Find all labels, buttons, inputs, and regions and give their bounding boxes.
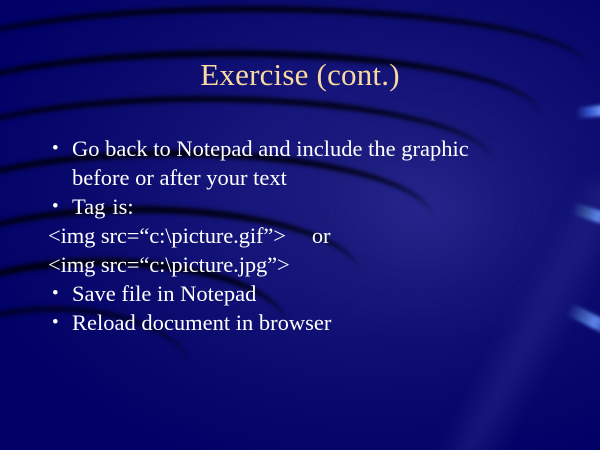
bullet-item-2-text-a: Tag <box>72 194 105 219</box>
bullet-glyph-icon: • <box>52 279 59 308</box>
slide-body: • Go back to Notepad and include the gra… <box>46 134 582 337</box>
bullet-item-3-text: Save file in Notepad <box>72 281 256 306</box>
accent-streak-1 <box>576 104 600 118</box>
bullet-glyph-icon: • <box>52 308 59 337</box>
presentation-slide: Exercise (cont.) • Go back to Notepad an… <box>0 0 600 450</box>
bullet-item-4: • Reload document in browser <box>46 308 582 337</box>
code-line-jpg-text: <img src=“c:\picture.jpg”> <box>48 252 290 277</box>
bullet-item-1-continuation: before or after your text <box>46 163 582 192</box>
bullet-item-1: • Go back to Notepad and include the gra… <box>46 134 582 163</box>
slide-title: Exercise (cont.) <box>0 56 600 94</box>
bullet-item-4-text: Reload document in browser <box>72 310 331 335</box>
code-line-jpg: <img src=“c:\picture.jpg”> <box>46 250 582 279</box>
bullet-item-2-text-b: is: <box>112 194 133 219</box>
bullet-item-1-text: Go back to Notepad and include the graph… <box>72 136 469 161</box>
bullet-item-1-continuation-text: before or after your text <box>72 165 287 190</box>
bullet-glyph-icon: • <box>52 134 59 163</box>
bullet-item-3: • Save file in Notepad <box>46 279 582 308</box>
code-line-gif-trailing: or <box>312 223 331 248</box>
code-line-gif-text: <img src=“c:\picture.gif”> <box>48 223 286 248</box>
bullet-glyph-icon: • <box>52 192 59 221</box>
code-line-gif: <img src=“c:\picture.gif”>or <box>46 221 582 250</box>
bullet-item-2: • Tagis: <box>46 192 582 221</box>
